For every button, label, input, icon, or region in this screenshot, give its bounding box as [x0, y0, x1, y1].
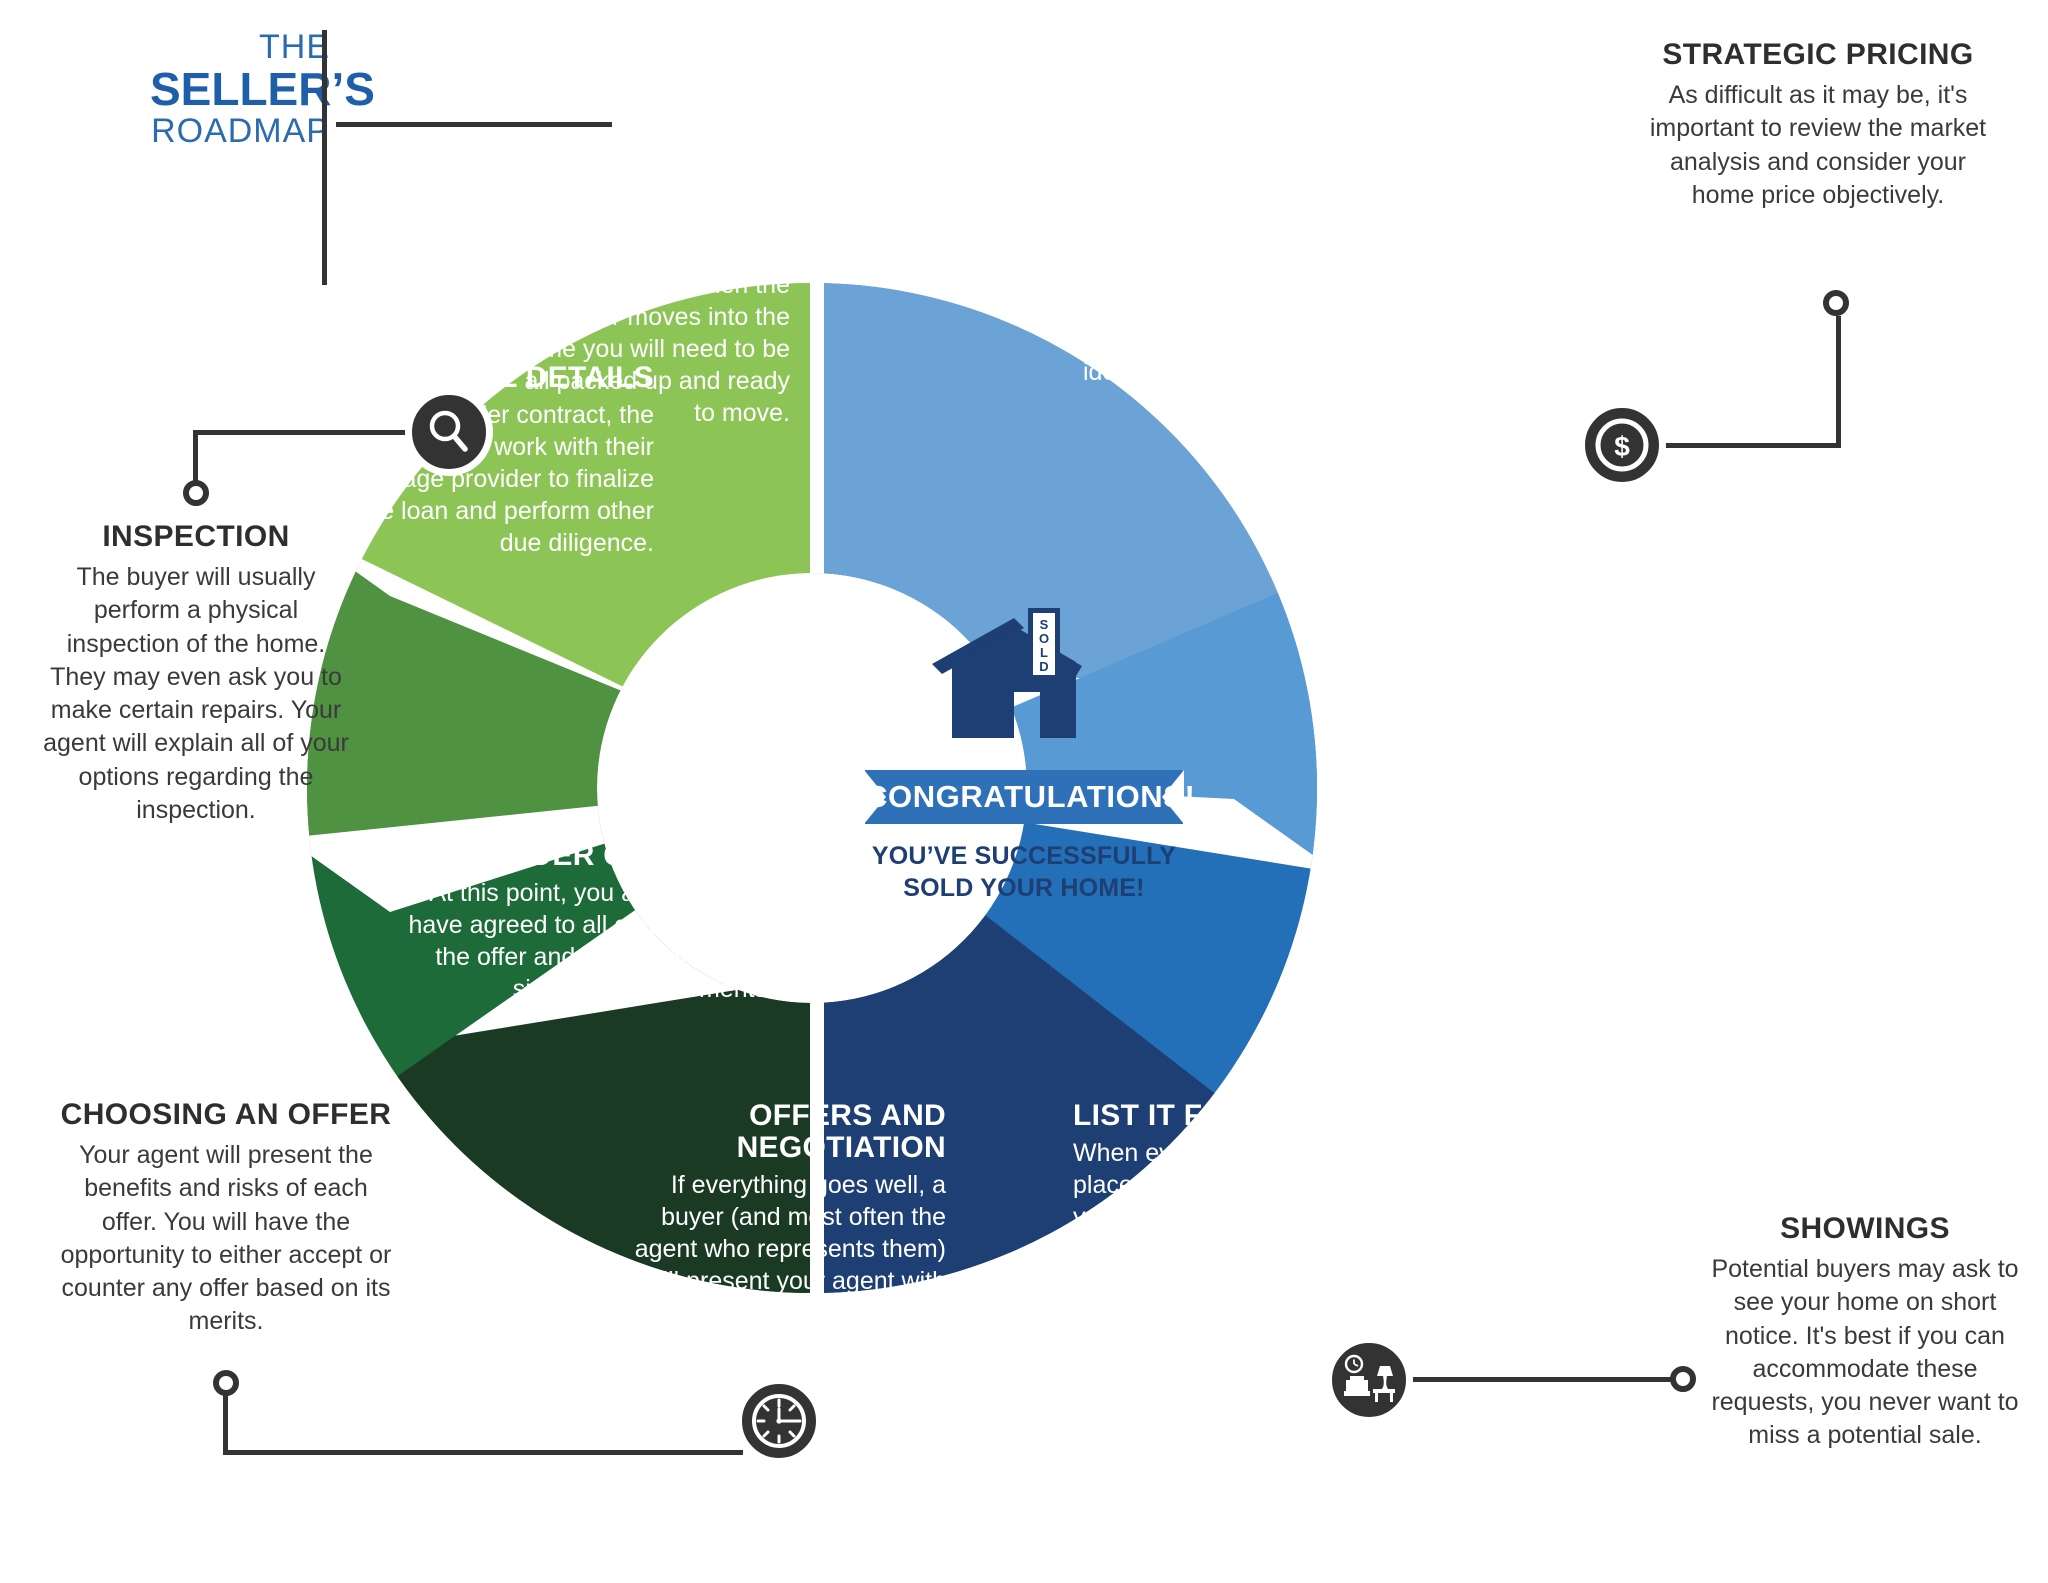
hub-subtitle-line-1: YOU’VE SUCCESSFULLY [845, 840, 1203, 872]
callout-title: INSPECTION [36, 520, 356, 554]
callout-body: The buyer will usually perform a physica… [36, 561, 356, 827]
infographic-root: THE SELLER’S ROADMAP [0, 0, 2048, 1583]
segment-closing: CLOSING This is the transfer of funds an… [500, 168, 790, 429]
badge-dollar-coin: $ [1578, 401, 1666, 489]
callout-dot-strategic-pricing [1823, 290, 1849, 316]
segment-title: ESTABLISH A PRICE [1360, 566, 1650, 630]
callout-title: STRATEGIC PRICING [1638, 38, 1998, 72]
segment-body: When everything is in place your agent w… [1073, 1137, 1345, 1393]
callout-title: SHOWINGS [1700, 1212, 2030, 1246]
callout-inspection: INSPECTION The buyer will usually perfor… [36, 520, 356, 827]
segment-meet-with-a-real-estate-professional: MEET WITH A REAL ESTATE PROFESSIONAL The… [1083, 128, 1383, 388]
svg-text:$: $ [1614, 431, 1630, 462]
badge-living-room-clock [1325, 1336, 1413, 1424]
hub-subtitle-line-2: SOLD YOUR HOME! [845, 872, 1203, 904]
svg-text:O: O [1039, 631, 1049, 646]
connector-showings-horizontal [1412, 1377, 1674, 1382]
segment-title: MEET WITH A REAL ESTATE PROFESSIONAL [1083, 128, 1383, 223]
connector-strategic-pricing-horizontal [1660, 443, 1840, 448]
callout-choosing-an-offer: CHOOSING AN OFFER Your agent will presen… [58, 1098, 394, 1339]
connector-strategic-pricing-vertical [1836, 316, 1841, 448]
segment-body: View your home through the eyes of the b… [1360, 951, 1648, 1143]
center-hub: S O L D CONGRATULATIONS! YOU’VE SUCCESSF… [845, 600, 1203, 904]
segment-body: If everything goes well, a buyer (and mo… [630, 1169, 946, 1329]
callout-title: CHOOSING AN OFFER [58, 1098, 394, 1132]
segment-body: There’s no commitment required on your p… [1083, 228, 1383, 388]
connector-inspection-horizontal [193, 430, 417, 435]
callout-dot-inspection [183, 480, 209, 506]
badge-clock [735, 1377, 823, 1465]
magnifying-glass-icon [423, 406, 475, 458]
connector-choosing-an-offer-horizontal [223, 1450, 743, 1455]
segment-title: LIST IT FOR SALE [1073, 1100, 1345, 1132]
segment-offers-and-negotiation: OFFERS AND NEGOTIATION If everything goe… [630, 1100, 946, 1329]
segment-body: At this point, you and the buyer have ag… [404, 877, 774, 1005]
svg-text:L: L [1040, 645, 1048, 660]
segment-under-contract: UNDER CONTRACT At this point, you and th… [404, 840, 774, 1005]
segment-title: CLOSING [500, 168, 790, 200]
connector-inspection-vertical [193, 430, 198, 482]
badge-magnifying-glass [405, 388, 493, 476]
callout-strategic-pricing: STRATEGIC PRICING As difficult as it may… [1638, 38, 1998, 212]
segment-prepare-your-home: PREPARE YOUR HOME View your home through… [1360, 882, 1648, 1143]
clock-icon [750, 1392, 808, 1450]
living-room-clock-icon [1340, 1354, 1398, 1406]
house-sold-sign-icon: S O L D [924, 600, 1124, 760]
svg-text:S: S [1040, 617, 1049, 632]
segment-title: UNDER CONTRACT [404, 840, 774, 872]
segment-title: OFFERS AND NEGOTIATION [630, 1100, 946, 1164]
callout-body: As difficult as it may be, it's importan… [1638, 79, 1998, 212]
callout-body: Potential buyers may ask to see your hom… [1700, 1253, 2030, 1453]
callout-body: Your agent will present the benefits and… [58, 1139, 394, 1339]
brand-line-1: THE [150, 28, 330, 67]
segment-list-it-for-sale: LIST IT FOR SALE When everything is in p… [1073, 1100, 1345, 1393]
segment-title: PREPARE YOUR HOME [1360, 882, 1648, 946]
connector-choosing-an-offer-vertical [223, 1392, 228, 1454]
svg-text:D: D [1039, 659, 1048, 674]
ribbon-label: CONGRATULATIONS! [865, 770, 1183, 824]
segment-body: Your agent will provide a market analysi… [1360, 635, 1650, 763]
segment-body: This is the transfer of funds and owners… [500, 205, 790, 429]
callout-showings: SHOWINGS Potential buyers may ask to see… [1700, 1212, 2030, 1453]
congratulations-ribbon: CONGRATULATIONS! [865, 770, 1183, 824]
dollar-coin-icon: $ [1594, 417, 1650, 473]
hub-subtitle: YOU’VE SUCCESSFULLY SOLD YOUR HOME! [845, 840, 1203, 904]
segment-establish-a-price: ESTABLISH A PRICE Your agent will provid… [1360, 566, 1650, 763]
